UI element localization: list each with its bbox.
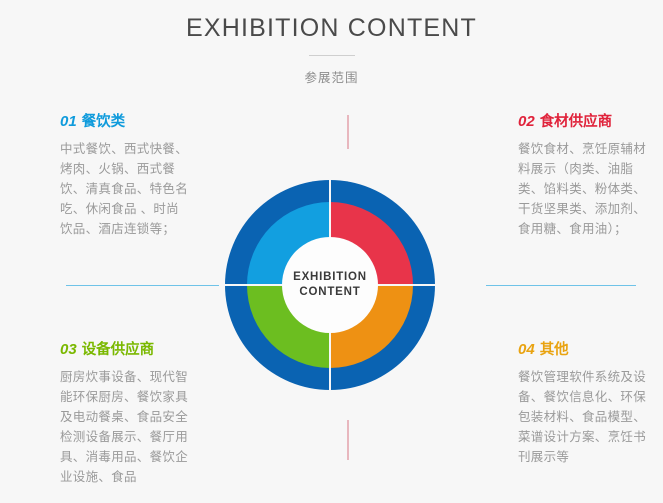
block-name-04: 其他 [540, 342, 569, 358]
connector-line-right [486, 285, 636, 286]
content-block-equipment-supplier: 03设备供应商 厨房炊事设备、现代智能环保厨房、餐饮家具及电动餐桌、食品安全检测… [60, 338, 188, 487]
block-name-02: 食材供应商 [540, 114, 613, 130]
block-body-04: 餐饮管理软件系统及设备、餐饮信息化、环保包装材料、食品模型、菜谱设计方案、烹饪书… [518, 367, 646, 467]
title-divider [309, 55, 355, 56]
connector-line-left [66, 285, 222, 286]
block-number-03: 03 [60, 341, 77, 358]
connector-line-top [347, 115, 349, 149]
block-number-02: 02 [518, 113, 535, 130]
connector-line-bottom [347, 420, 349, 460]
page-header: EXHIBITION CONTENT 参展范围 [0, 0, 663, 86]
content-block-food-supplier: 02食材供应商 餐饮食材、烹饪原辅材料展示（肉类、油脂类、馅料类、粉体类、干货坚… [518, 110, 646, 239]
block-heading-04: 04其他 [518, 338, 646, 359]
block-heading-02: 02食材供应商 [518, 110, 646, 131]
block-heading-03: 03设备供应商 [60, 338, 188, 359]
page-title: EXHIBITION CONTENT [0, 14, 663, 43]
block-heading-01: 01餐饮类 [60, 110, 188, 131]
donut-center-line1: EXHIBITION [293, 270, 367, 285]
content-block-catering: 01餐饮类 中式餐饮、西式快餐、烤肉、火锅、西式餐饮、清真食品、特色名吃、休闲食… [60, 110, 188, 239]
content-block-others: 04其他 餐饮管理软件系统及设备、餐饮信息化、环保包装材料、食品模型、菜谱设计方… [518, 338, 646, 467]
block-body-01: 中式餐饮、西式快餐、烤肉、火锅、西式餐饮、清真食品、特色名吃、休闲食品 、时尚饮… [60, 139, 188, 239]
block-number-04: 04 [518, 341, 535, 358]
page-subtitle: 参展范围 [0, 67, 663, 86]
block-number-01: 01 [60, 113, 77, 130]
block-name-03: 设备供应商 [82, 342, 155, 358]
block-name-01: 餐饮类 [82, 114, 126, 130]
donut-center-line2: CONTENT [299, 285, 360, 300]
donut-center-label: EXHIBITION CONTENT [282, 237, 378, 333]
block-body-02: 餐饮食材、烹饪原辅材料展示（肉类、油脂类、馅料类、粉体类、干货坚果类、添加剂、食… [518, 139, 646, 239]
block-body-03: 厨房炊事设备、现代智能环保厨房、餐饮家具及电动餐桌、食品安全检测设备展示、餐厅用… [60, 367, 188, 487]
donut-chart: EXHIBITION CONTENT [225, 180, 435, 390]
